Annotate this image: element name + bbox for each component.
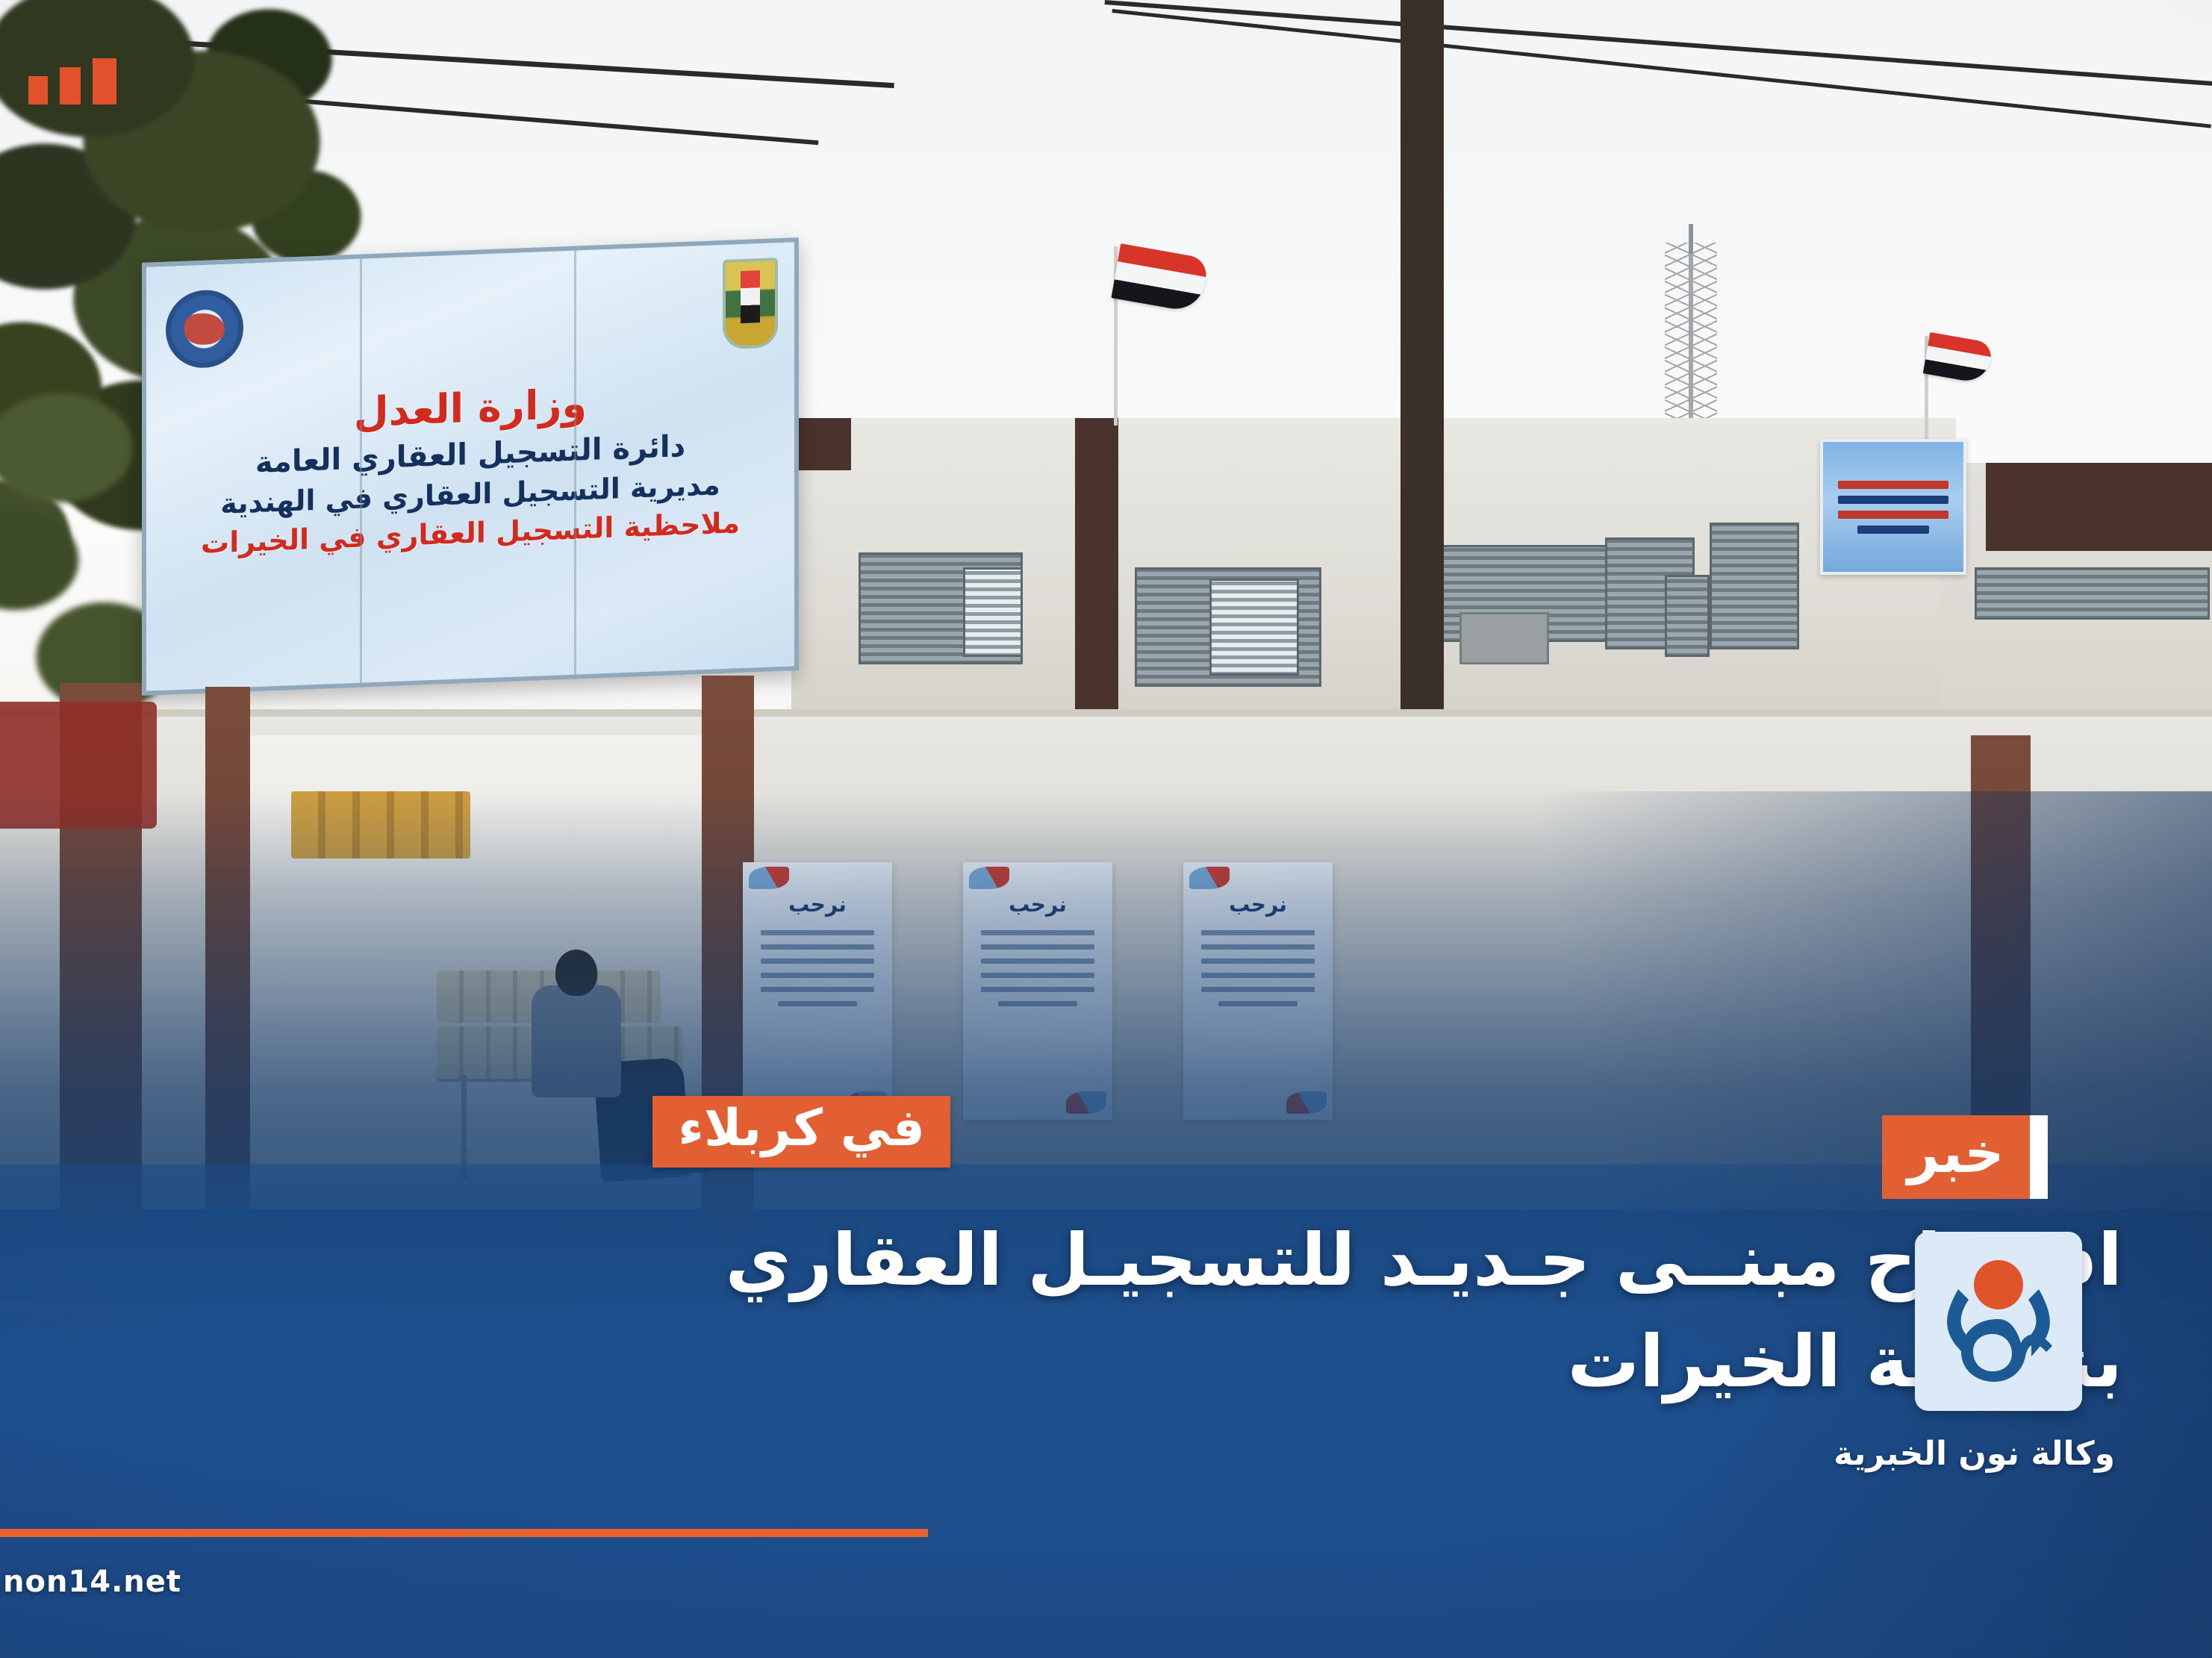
facade-band: [791, 418, 851, 470]
welcome-poster: نرحب: [963, 862, 1112, 1120]
blue-department-sign-icon: [1820, 439, 1966, 575]
accent-rule: [0, 1529, 928, 1537]
brand-block: خبر وكالة نون الخبرية: [1882, 1115, 2115, 1473]
facade-band: [1986, 463, 2212, 551]
poster-title: نرحب: [788, 892, 847, 917]
air-conditioner-icon: [1459, 612, 1549, 664]
website-url[interactable]: www.non14.net: [0, 1565, 181, 1599]
billboard-line-1: وزارة العدل: [354, 380, 587, 436]
bench-leg: [461, 1075, 467, 1179]
agency-name: وكالة نون الخبرية: [1882, 1435, 2115, 1473]
headline-line-1: افـتـتاح مبنــى جـديـد للتسجيـل العقاري: [502, 1209, 2122, 1311]
ministry-billboard: وزارة العدل دائرة التسجيل العقاري العامة…: [142, 237, 799, 696]
three-bars-mark-icon: [28, 58, 116, 105]
wall-pillar: [205, 687, 250, 1209]
welcome-poster: نرحب: [743, 862, 892, 1120]
iraq-coat-of-arms-icon: [723, 258, 778, 349]
building-window: [1665, 575, 1710, 657]
building-window: [1710, 523, 1799, 649]
news-card: وزارة العدل دائرة التسجيل العقاري العامة…: [0, 0, 2212, 1658]
news-badge: خبر: [1882, 1115, 2115, 1199]
registration-department-logo-icon: [166, 289, 243, 370]
barrels-stack: [291, 791, 470, 858]
badge-white-bar: [2030, 1115, 2048, 1199]
utility-pole-icon: [1401, 0, 1444, 776]
poster-title: نرحب: [1229, 892, 1287, 917]
seated-person-icon: [532, 985, 621, 1097]
kicker-badge: في كربلاء: [652, 1096, 950, 1168]
communication-tower-icon: [1665, 243, 1717, 426]
building-window: [1209, 579, 1299, 676]
building-window: [1975, 567, 2210, 620]
parked-vehicle: [0, 702, 157, 829]
building-window: [963, 567, 1023, 657]
news-badge-label: خبر: [1882, 1115, 2030, 1199]
seated-person-icon: [555, 950, 597, 996]
noon-agency-logo-icon[interactable]: [1915, 1232, 2082, 1411]
welcome-poster: نرحب: [1183, 862, 1333, 1120]
poster-title: نرحب: [1009, 892, 1067, 917]
page-title: افـتـتاح مبنــى جـديـد للتسجيـل العقاري …: [502, 1209, 2122, 1413]
wall-pillar: [1971, 735, 2031, 1153]
headline-line-2: بنـاحيـة الخيرات: [502, 1311, 2122, 1412]
antenna-icon: [1689, 224, 1693, 254]
